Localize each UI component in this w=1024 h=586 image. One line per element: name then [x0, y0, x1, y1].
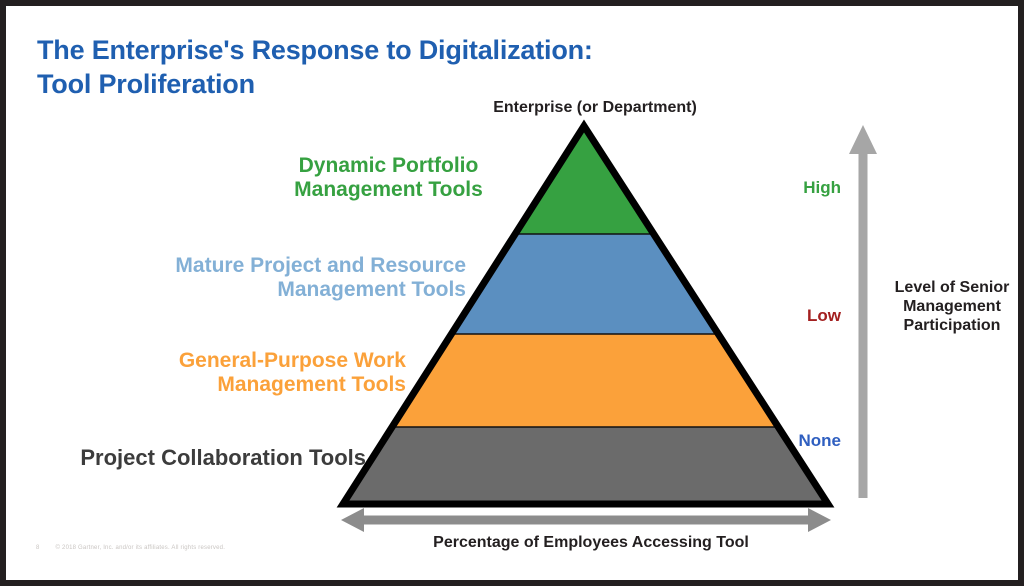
- horizontal-axis-arrow: [341, 508, 831, 532]
- vertical-axis-caption: Level of Senior Management Participation: [878, 278, 1024, 336]
- page-title: The Enterprise's Response to Digitalizat…: [37, 34, 797, 102]
- label-blue-line-2: Management Tools: [66, 278, 466, 302]
- vertical-axis-caption-line-3: Participation: [878, 316, 1024, 335]
- pyramid-label-general-purpose-work: General-Purpose Work Management Tools: [66, 349, 406, 396]
- axis-tick-high: High: [751, 178, 841, 198]
- pyramid-apex-label: Enterprise (or Department): [455, 99, 735, 117]
- title-line-2: Tool Proliferation: [37, 68, 797, 102]
- label-orange-line-2: Management Tools: [66, 373, 406, 397]
- vertical-axis-arrow: [849, 125, 877, 498]
- label-gray-line-1: Project Collaboration Tools: [16, 446, 366, 471]
- axis-tick-low: Low: [751, 306, 841, 326]
- axis-tick-none: None: [751, 431, 841, 451]
- label-green-line-2: Management Tools: [261, 178, 516, 202]
- pyramid-label-mature-project-resource: Mature Project and Resource Management T…: [66, 254, 466, 301]
- footer-copyright: © 2018 Gartner, Inc. and/or its affiliat…: [56, 545, 226, 551]
- horizontal-axis-caption: Percentage of Employees Accessing Tool: [386, 534, 796, 552]
- label-orange-line-1: General-Purpose Work: [66, 349, 406, 373]
- slide-canvas: The Enterprise's Response to Digitalizat…: [0, 0, 1024, 586]
- footer: 8© 2018 Gartner, Inc. and/or its affilia…: [36, 545, 225, 551]
- vertical-axis-caption-line-1: Level of Senior: [878, 278, 1024, 297]
- pyramid-label-project-collaboration: Project Collaboration Tools: [16, 446, 366, 471]
- footer-page-number: 8: [36, 545, 40, 551]
- vertical-axis-caption-line-2: Management: [878, 297, 1024, 316]
- label-blue-line-1: Mature Project and Resource: [66, 254, 466, 278]
- pyramid-label-dynamic-portfolio: Dynamic Portfolio Management Tools: [261, 154, 516, 201]
- title-line-1: The Enterprise's Response to Digitalizat…: [37, 35, 593, 65]
- label-green-line-1: Dynamic Portfolio: [261, 154, 516, 178]
